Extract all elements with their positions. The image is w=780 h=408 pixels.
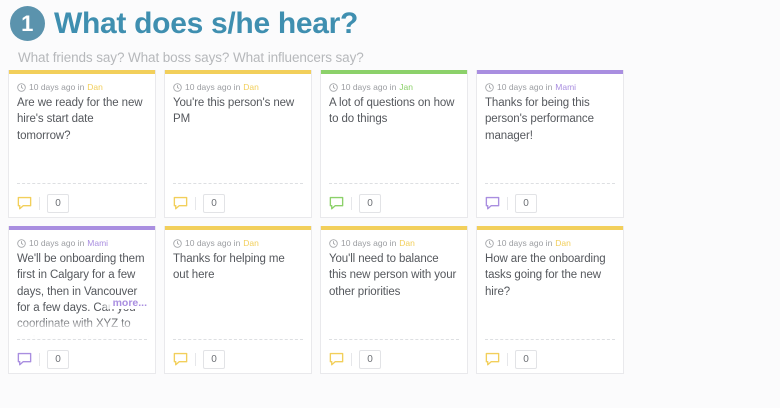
note-card[interactable]: 10 days ago inDanHow are the onboarding … xyxy=(476,226,624,374)
step-number-badge: 1 xyxy=(10,6,45,41)
card-meta: 10 days ago inDan xyxy=(485,238,615,248)
card-text: We'll be onboarding them first in Calgar… xyxy=(17,251,147,339)
card-text: Are we ready for the new hire's start da… xyxy=(17,95,147,183)
card-body: 10 days ago inDanAre we ready for the ne… xyxy=(9,74,155,183)
comment-bubble-icon[interactable] xyxy=(329,196,344,210)
note-card[interactable]: 10 days ago inDanYou're this person's ne… xyxy=(164,70,312,218)
comment-bubble-icon[interactable] xyxy=(485,196,500,210)
note-card[interactable]: 10 days ago inDanYou'll need to balance … xyxy=(320,226,468,374)
card-meta: 10 days ago inJan xyxy=(329,82,459,92)
note-card[interactable]: 10 days ago inMamiWe'll be onboarding th… xyxy=(8,226,156,374)
footer-divider xyxy=(351,353,352,366)
page-subtitle: What friends say? What boss says? What i… xyxy=(18,50,772,65)
comment-bubble-icon[interactable] xyxy=(17,352,32,366)
note-card[interactable]: 10 days ago inMamiThanks for being this … xyxy=(476,70,624,218)
card-footer: 0 xyxy=(17,339,147,373)
card-meta: 10 days ago inDan xyxy=(173,238,303,248)
card-timestamp: 10 days ago in xyxy=(185,238,240,248)
card-meta: 10 days ago inMami xyxy=(485,82,615,92)
card-footer: 0 xyxy=(173,183,303,217)
comment-count[interactable]: 0 xyxy=(203,194,225,213)
comment-count[interactable]: 0 xyxy=(359,194,381,213)
card-body: 10 days ago inDanHow are the onboarding … xyxy=(477,230,623,339)
page-title: What does s/he hear? xyxy=(54,8,358,40)
comment-bubble-icon[interactable] xyxy=(173,352,188,366)
clock-icon xyxy=(485,83,494,92)
footer-divider xyxy=(507,197,508,210)
card-timestamp: 10 days ago in xyxy=(29,238,84,248)
clock-icon xyxy=(173,83,182,92)
card-timestamp: 10 days ago in xyxy=(341,238,396,248)
card-author[interactable]: Dan xyxy=(243,82,259,92)
card-timestamp: 10 days ago in xyxy=(497,238,552,248)
card-footer: 0 xyxy=(173,339,303,373)
card-timestamp: 10 days ago in xyxy=(341,82,396,92)
note-card[interactable]: 10 days ago inJanA lot of questions on h… xyxy=(320,70,468,218)
comment-bubble-icon[interactable] xyxy=(329,352,344,366)
clock-icon xyxy=(173,239,182,248)
step-number: 1 xyxy=(21,13,34,35)
card-author[interactable]: Dan xyxy=(399,238,415,248)
card-author[interactable]: Dan xyxy=(243,238,259,248)
card-text: You're this person's new PM xyxy=(173,95,303,183)
comment-bubble-icon[interactable] xyxy=(173,196,188,210)
card-text: A lot of questions on how to do things xyxy=(329,95,459,183)
card-meta: 10 days ago inDan xyxy=(173,82,303,92)
card-footer: 0 xyxy=(329,183,459,217)
card-footer: 0 xyxy=(485,183,615,217)
comment-count[interactable]: 0 xyxy=(515,350,537,369)
card-text: Thanks for being this person's performan… xyxy=(485,95,615,183)
card-meta: 10 days ago inDan xyxy=(17,82,147,92)
comment-bubble-icon[interactable] xyxy=(17,196,32,210)
card-author[interactable]: Mami xyxy=(87,238,108,248)
footer-divider xyxy=(39,197,40,210)
card-author[interactable]: Dan xyxy=(87,82,103,92)
card-meta: 10 days ago inDan xyxy=(329,238,459,248)
card-author[interactable]: Dan xyxy=(555,238,571,248)
card-footer: 0 xyxy=(329,339,459,373)
note-card[interactable]: 10 days ago inDanAre we ready for the ne… xyxy=(8,70,156,218)
clock-icon xyxy=(17,239,26,248)
card-text: You'll need to balance this new person w… xyxy=(329,251,459,339)
card-body: 10 days ago inDanYou're this person's ne… xyxy=(165,74,311,183)
card-footer: 0 xyxy=(485,339,615,373)
cards-grid: 10 days ago inDanAre we ready for the ne… xyxy=(8,70,772,374)
page-header: 1 What does s/he hear? What friends say?… xyxy=(8,0,772,65)
card-timestamp: 10 days ago in xyxy=(185,82,240,92)
note-card[interactable]: 10 days ago inDanThanks for helping me o… xyxy=(164,226,312,374)
card-author[interactable]: Mami xyxy=(555,82,576,92)
card-body: 10 days ago inJanA lot of questions on h… xyxy=(321,74,467,183)
footer-divider xyxy=(195,353,196,366)
card-body: 10 days ago inDanThanks for helping me o… xyxy=(165,230,311,339)
card-meta: 10 days ago inMami xyxy=(17,238,147,248)
comment-count[interactable]: 0 xyxy=(359,350,381,369)
card-timestamp: 10 days ago in xyxy=(29,82,84,92)
clock-icon xyxy=(329,83,338,92)
clock-icon xyxy=(17,83,26,92)
comment-bubble-icon[interactable] xyxy=(485,352,500,366)
comment-count[interactable]: 0 xyxy=(47,350,69,369)
footer-divider xyxy=(507,353,508,366)
more-link[interactable]: more... xyxy=(101,297,147,309)
card-body: 10 days ago inMamiThanks for being this … xyxy=(477,74,623,183)
card-text: How are the onboarding tasks going for t… xyxy=(485,251,615,339)
card-author[interactable]: Jan xyxy=(399,82,413,92)
card-body: 10 days ago inMamiWe'll be onboarding th… xyxy=(9,230,155,339)
comment-count[interactable]: 0 xyxy=(47,194,69,213)
card-timestamp: 10 days ago in xyxy=(497,82,552,92)
comment-count[interactable]: 0 xyxy=(203,350,225,369)
clock-icon xyxy=(329,239,338,248)
card-text: Thanks for helping me out here xyxy=(173,251,303,339)
footer-divider xyxy=(195,197,196,210)
title-row: 1 What does s/he hear? xyxy=(10,6,772,41)
page-root: 1 What does s/he hear? What friends say?… xyxy=(0,0,780,408)
card-footer: 0 xyxy=(17,183,147,217)
card-body: 10 days ago inDanYou'll need to balance … xyxy=(321,230,467,339)
comment-count[interactable]: 0 xyxy=(515,194,537,213)
footer-divider xyxy=(39,353,40,366)
footer-divider xyxy=(351,197,352,210)
clock-icon xyxy=(485,239,494,248)
